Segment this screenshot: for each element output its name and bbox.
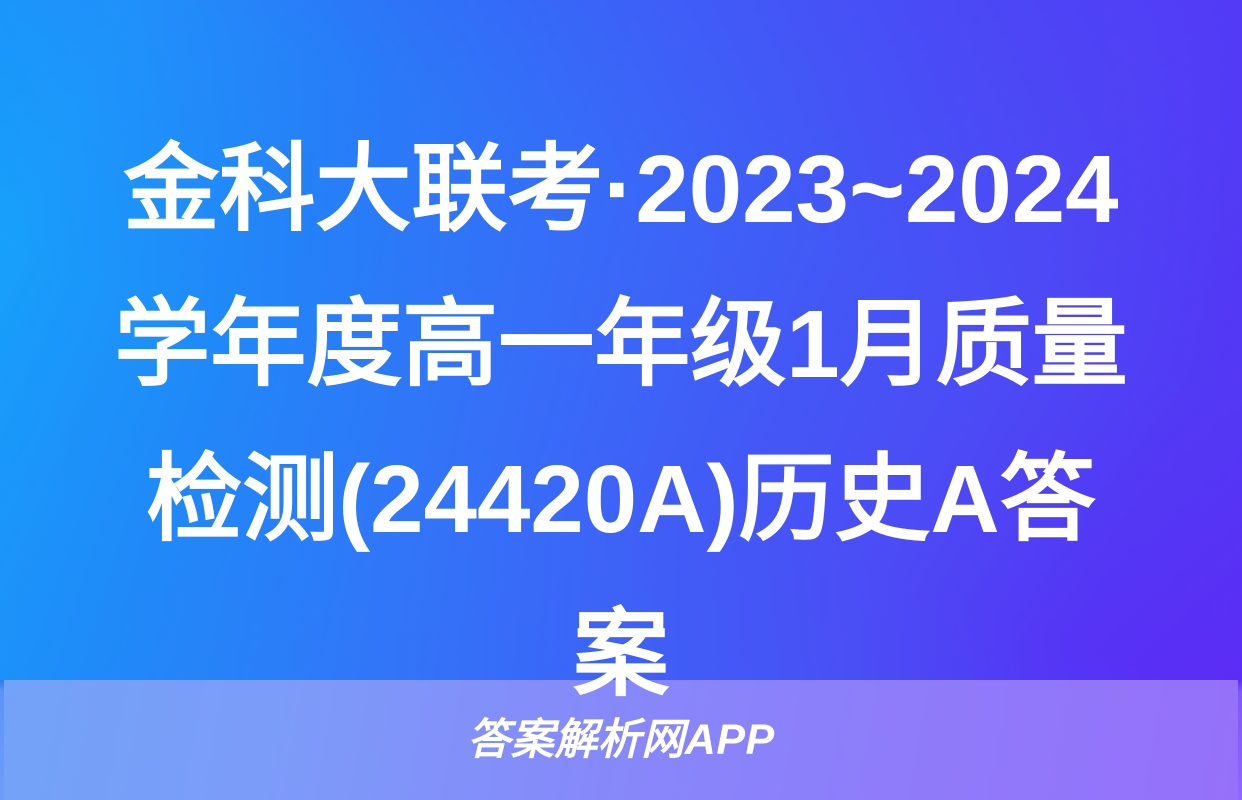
title-line-2: 学年度高一年级1月质量 (0, 267, 1242, 422)
title-line-1: 金科大联考·2023~2024 (0, 112, 1242, 267)
watermark-text: 答案解析网APP (467, 719, 774, 762)
page-title: 金科大联考·2023~2024 学年度高一年级1月质量 检测(24420A)历史… (0, 112, 1242, 732)
answer-cover-card: 金科大联考·2023~2024 学年度高一年级1月质量 检测(24420A)历史… (0, 0, 1242, 800)
watermark-label: 答案解析网APP (0, 680, 1242, 800)
title-line-3: 检测(24420A)历史A答 (0, 422, 1242, 577)
